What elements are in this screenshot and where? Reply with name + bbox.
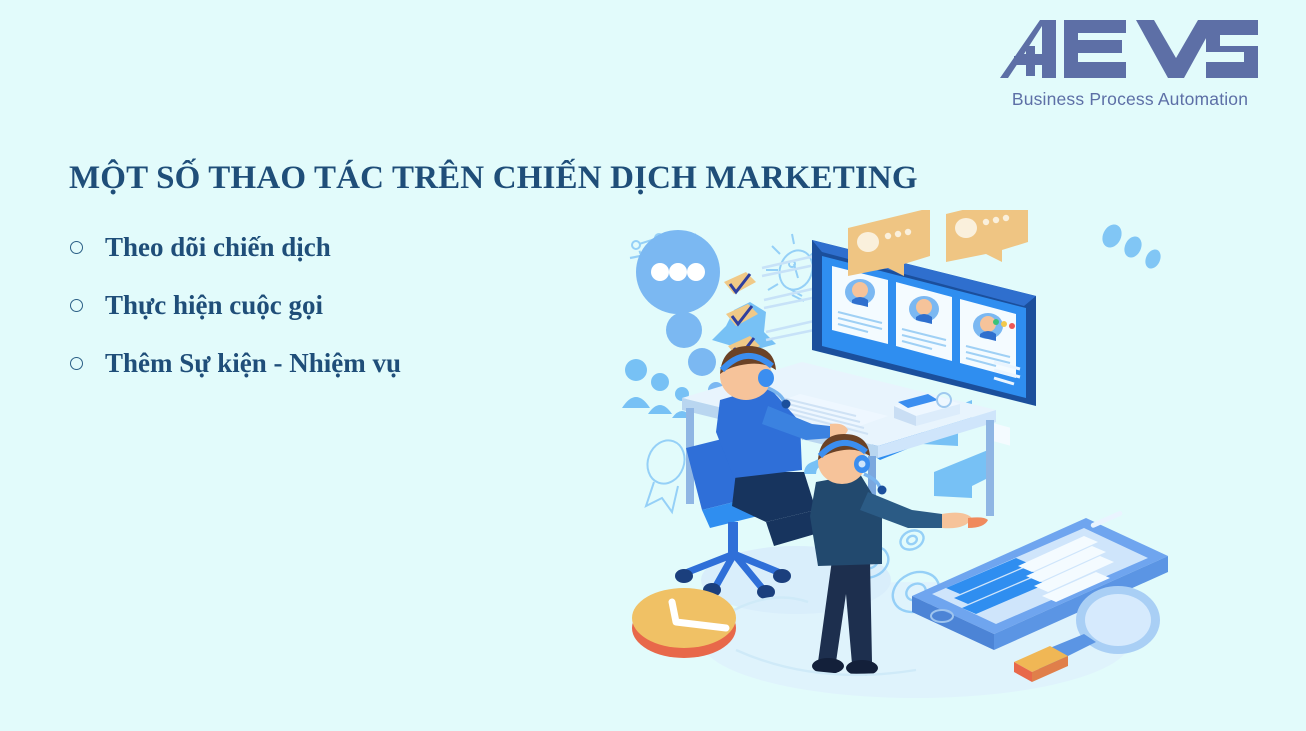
list-item-label: Thực hiện cuộc gọi (105, 290, 323, 321)
page-title: MỘT SỐ THAO TÁC TRÊN CHIẾN DỊCH MARKETIN… (69, 160, 918, 197)
bullet-list: Theo dõi chiến dịch Thực hiện cuộc gọi T… (70, 218, 401, 392)
dots-icon (1099, 221, 1164, 271)
people-group-icon (622, 359, 692, 418)
brand-logo: Business Process Automation (1000, 16, 1260, 110)
message-card-icon (946, 210, 1028, 262)
brand-tagline: Business Process Automation (1000, 89, 1260, 110)
circle-outline-icon (70, 357, 83, 370)
abms-logo-icon (1000, 16, 1260, 88)
list-item-label: Theo dõi chiến dịch (105, 232, 331, 263)
list-item-label: Thêm Sự kiện - Nhiệm vụ (105, 348, 401, 379)
chat-bubble-icon (636, 230, 724, 398)
callcenter-illustration (616, 210, 1216, 710)
slide-canvas: Business Process Automation MỘT SỐ THAO … (0, 0, 1306, 731)
award-ribbon-icon (642, 435, 691, 512)
list-item: Thêm Sự kiện - Nhiệm vụ (70, 334, 401, 392)
circle-outline-icon (70, 299, 83, 312)
circle-outline-icon (70, 241, 83, 254)
list-item: Theo dõi chiến dịch (70, 218, 401, 276)
message-card-icon (848, 210, 930, 276)
clock-icon (632, 588, 736, 658)
list-item: Thực hiện cuộc gọi (70, 276, 401, 334)
illustration-svg (616, 210, 1216, 710)
